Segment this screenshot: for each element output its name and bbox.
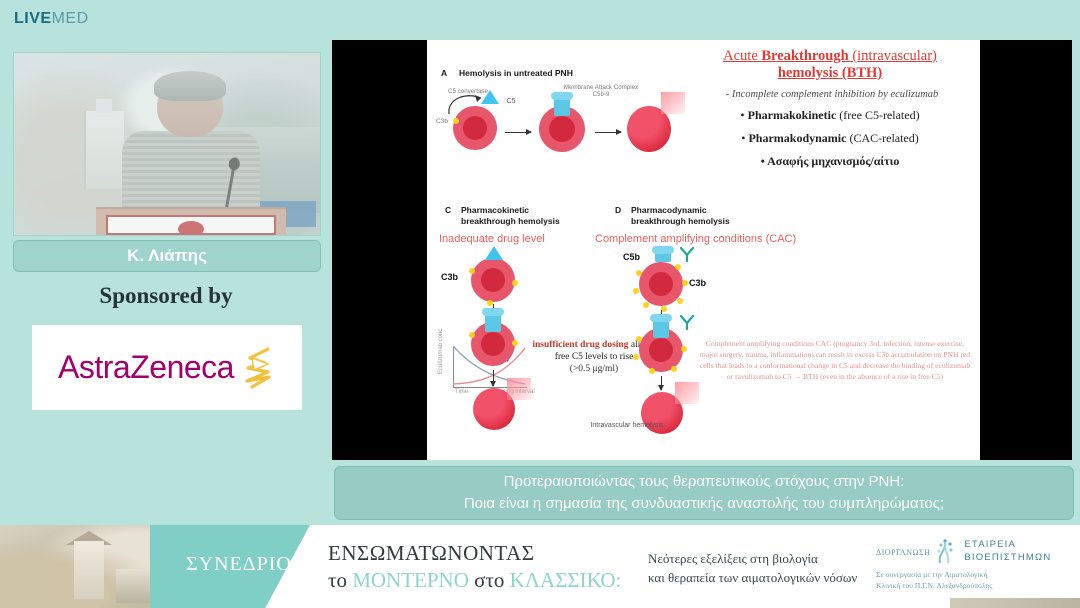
video-feed[interactable]: ΑΔΙΟ bbox=[13, 52, 321, 236]
panel-d-cac-note: Complement amplifying conditions CAC (pr… bbox=[699, 338, 971, 382]
session-title-line2: Ποια είναι η σημασία της συνδυαστικής αν… bbox=[464, 493, 944, 515]
slide-bullet-2-rest: (CAC-related) bbox=[846, 131, 918, 145]
slide-title-part-b: Breakthrough bbox=[761, 48, 848, 64]
arrow-a2-a3 bbox=[595, 132, 621, 133]
organizer-name-line1: ΕΤΑΙΡΕΙΑ bbox=[964, 539, 1016, 550]
c5b-block-d1 bbox=[655, 250, 671, 262]
congress-footer: ΣΥΝΕΔΡΙΟ ΕΝΣΩΜΑΤΩΝΟΝΤΑΣ το ΜΟΝΤΕΡΝΟ στο … bbox=[0, 525, 1080, 608]
astrazeneca-wordmark: AstraZeneca bbox=[58, 349, 234, 386]
label-c3b-c: C3b bbox=[441, 272, 458, 282]
congress-title-modern: ΜΟΝΤΕΡΝΟ bbox=[352, 568, 469, 592]
session-title-line1: Προτεραιοποιώντας τους θεραπευτικούς στό… bbox=[504, 471, 905, 493]
c3b-dot-a1 bbox=[453, 118, 459, 124]
congress-title: ΕΝΣΩΜΑΤΩΝΟΝΤΑΣ το ΜΟΝΤΕΡΝΟ στο ΚΛΑΣΣΙΚΟ: bbox=[328, 541, 621, 593]
panel-d-title: Pharmacodynamic breakthrough hemolysis bbox=[631, 205, 730, 226]
c3b-dot-d1c bbox=[643, 302, 649, 308]
c3b-dot-d2e bbox=[681, 346, 687, 352]
slide-subtitle: - Incomplete complement inhibition by ec… bbox=[689, 89, 975, 100]
sponsored-by-label: Sponsored by bbox=[0, 283, 332, 309]
organizer-row: ΔΙΟΡΓΑΝΩΣΗ ΕΤΑΙΡΕΙΑ ΒΙΟΕΠΙΣΤΗΜΩΝ bbox=[876, 539, 1076, 565]
sponsor-logo-card: AstraZeneca bbox=[32, 325, 302, 410]
congress-title-line2: το ΜΟΝΤΕΡΝΟ στο ΚΛΑΣΣΙΚΟ: bbox=[328, 568, 621, 593]
organizer-label: ΔΙΟΡΓΑΝΩΣΗ bbox=[876, 548, 930, 557]
astrazeneca-mark-icon bbox=[238, 346, 276, 390]
c3b-dot-d2a bbox=[636, 336, 642, 342]
arrow-a1-a2 bbox=[505, 132, 531, 133]
antibody-icon-d1 bbox=[679, 246, 695, 262]
c3b-dot-d1b bbox=[633, 288, 639, 294]
congress-title-classic: ΚΛΑΣΣΙΚΟ: bbox=[510, 568, 622, 592]
c3b-dot-d2c bbox=[649, 368, 655, 374]
congress-label: ΣΥΝΕΔΡΙΟ bbox=[186, 553, 292, 576]
c3b-dot-c1b bbox=[512, 280, 518, 286]
hemolysis-burst-d3 bbox=[675, 382, 699, 404]
slide-title: Acute Breakthrough (intravascular) hemol… bbox=[685, 48, 975, 82]
panel-c-title-l1: Pharmacokinetic bbox=[461, 205, 529, 215]
slide-viewport[interactable]: Acute Breakthrough (intravascular) hemol… bbox=[332, 40, 1072, 460]
slide-title-part-a: Acute bbox=[723, 48, 761, 64]
panel-c-note-value: (>0.5 μg/ml) bbox=[570, 364, 618, 374]
organizer-block: ΔΙΟΡΓΑΝΩΣΗ ΕΤΑΙΡΕΙΑ ΒΙΟΕΠΙΣΤΗΜΩΝ bbox=[876, 539, 1076, 591]
panel-d-title-l2: breakthrough hemolysis bbox=[631, 216, 730, 226]
c3b-dot-d1e bbox=[677, 298, 683, 304]
slide-bullet-1-head: Pharmakokinetic bbox=[748, 108, 837, 122]
mac-complex-a2 bbox=[554, 96, 570, 116]
antibody-icon-d2 bbox=[679, 314, 695, 330]
chart-ylabel: Eculizumab conc bbox=[438, 329, 444, 374]
c3b-dot-d2b bbox=[633, 354, 639, 360]
panel-c-note-red: insufficient drug dosing bbox=[532, 340, 628, 350]
label-mac-line2: C5b-9 bbox=[593, 91, 610, 98]
panel-c-heading: Inadequate drug level bbox=[439, 233, 545, 245]
label-c3b-d: C3b bbox=[689, 278, 706, 288]
chart-xlabel: Time bbox=[455, 389, 468, 395]
slide-bullet-2-head: Pharmakodynamic bbox=[748, 131, 846, 145]
c3b-dot-c1a bbox=[469, 268, 475, 274]
artwork-house bbox=[74, 541, 104, 599]
congress-title-sto: στο bbox=[469, 568, 510, 592]
slide-bullet-2: • Pharmakodynamic (CAC-related) bbox=[685, 131, 975, 146]
intravascular-hemolysis-label: Intravascular hemolysis bbox=[537, 422, 717, 429]
arrow-d2-d3 bbox=[661, 376, 662, 390]
panel-d-title-l1: Pharmacodynamic bbox=[631, 205, 707, 215]
hemolysis-burst-a3 bbox=[661, 92, 685, 114]
rbc-c1 bbox=[471, 258, 515, 302]
organizer-collaboration-line1: Σε συνεργασία με την Αιματολογική bbox=[876, 570, 987, 579]
panel-c-tag: C bbox=[445, 205, 451, 215]
congress-subtitle-line2: και θεραπεία των αιματολογικών νόσων bbox=[648, 569, 857, 588]
congress-title-line1: ΕΝΣΩΜΑΤΩΝΟΝΤΑΣ bbox=[328, 541, 621, 566]
c3b-dot-d1f bbox=[682, 280, 688, 286]
slide-bullet-3: • Ασαφής μηχανισμός/αίτιο bbox=[685, 154, 975, 169]
arrow-c2-c3 bbox=[493, 370, 494, 386]
left-panel: LIVEMED ΑΔΙΟ Κ. Λιάπης Sponsored by Astr… bbox=[0, 0, 332, 525]
speaker-nameplate: Κ. Λιάπης bbox=[13, 240, 321, 272]
congress-subtitle-line1: Νεότερες εξελίξεις στη βιολογία bbox=[648, 550, 857, 569]
slide-bullet-1-rest: (free C5-related) bbox=[836, 108, 919, 122]
label-c5-a: C5 bbox=[501, 98, 521, 106]
panel-c-title: Pharmacokinetic breakthrough hemolysis bbox=[461, 205, 560, 226]
slide-title-part-c: (intravascular) bbox=[849, 48, 937, 64]
video-overlay-veil bbox=[14, 53, 320, 235]
c3b-dot-d1g bbox=[675, 264, 681, 270]
speaker-name: Κ. Λιάπης bbox=[127, 246, 207, 266]
footer-right-strip bbox=[950, 598, 1080, 608]
bioscience-society-logo-icon bbox=[934, 539, 958, 565]
organizer-collaboration-line2: Κλινική του Π.Γ.Ν. Αλεξανδρούπολης bbox=[876, 581, 992, 590]
livemed-logo-live: LIVE bbox=[14, 10, 52, 27]
c5-triangle-c1 bbox=[485, 246, 503, 260]
panel-d-heading: Complement amplifying conditions (CAC) bbox=[595, 233, 796, 245]
label-mac-line1: Membrane Attack Complex bbox=[564, 84, 638, 91]
mac-complex-c2 bbox=[485, 312, 501, 332]
slide-bullet-1: • Pharmakokinetic (free C5-related) bbox=[685, 108, 975, 123]
c3b-dot-d1a bbox=[636, 270, 642, 276]
c3b-dot-c2b bbox=[512, 340, 518, 346]
livemed-logo: LIVEMED bbox=[14, 10, 89, 28]
slide-bullet-3-head: Ασαφής μηχανισμός/αίτιο bbox=[767, 154, 899, 168]
congress-subtitle: Νεότερες εξελίξεις στη βιολογία και θερα… bbox=[648, 550, 857, 588]
presentation-slide: Acute Breakthrough (intravascular) hemol… bbox=[427, 40, 980, 460]
label-c5b-d: C5b bbox=[623, 252, 640, 262]
livemed-logo-med: MED bbox=[52, 10, 89, 27]
panel-d-tag: D bbox=[615, 205, 621, 215]
congress-title-to: το bbox=[328, 568, 352, 592]
session-title-banner: Προτεραιοποιώντας τους θεραπευτικούς στό… bbox=[334, 466, 1074, 520]
c3b-dot-d2d bbox=[671, 366, 677, 372]
hemolysis-burst-c3 bbox=[507, 378, 531, 400]
panel-c-title-l2: breakthrough hemolysis bbox=[461, 216, 560, 226]
organizer-name-line2: ΒΙΟΕΠΙΣΤΗΜΩΝ bbox=[964, 552, 1051, 563]
c3b-dot-c2a bbox=[469, 332, 475, 338]
label-c3b-a: C3b bbox=[431, 118, 453, 126]
panel-a-tag: A bbox=[441, 68, 447, 78]
convertase-arrow-icon bbox=[445, 90, 489, 116]
slide-title-line2: hemolysis (BTH) bbox=[778, 65, 882, 81]
webinar-stage: LIVEMED ΑΔΙΟ Κ. Λιάπης Sponsored by Astr… bbox=[0, 0, 1080, 608]
mac-complex-d2 bbox=[653, 318, 669, 338]
organizer-collaboration: Σε συνεργασία με την Αιματολογική Κλινικ… bbox=[876, 570, 1076, 591]
organizer-name: ΕΤΑΙΡΕΙΑ ΒΙΟΕΠΙΣΤΗΜΩΝ bbox=[964, 539, 1051, 565]
panel-a-title: Hemolysis in untreated PNH bbox=[459, 68, 573, 79]
